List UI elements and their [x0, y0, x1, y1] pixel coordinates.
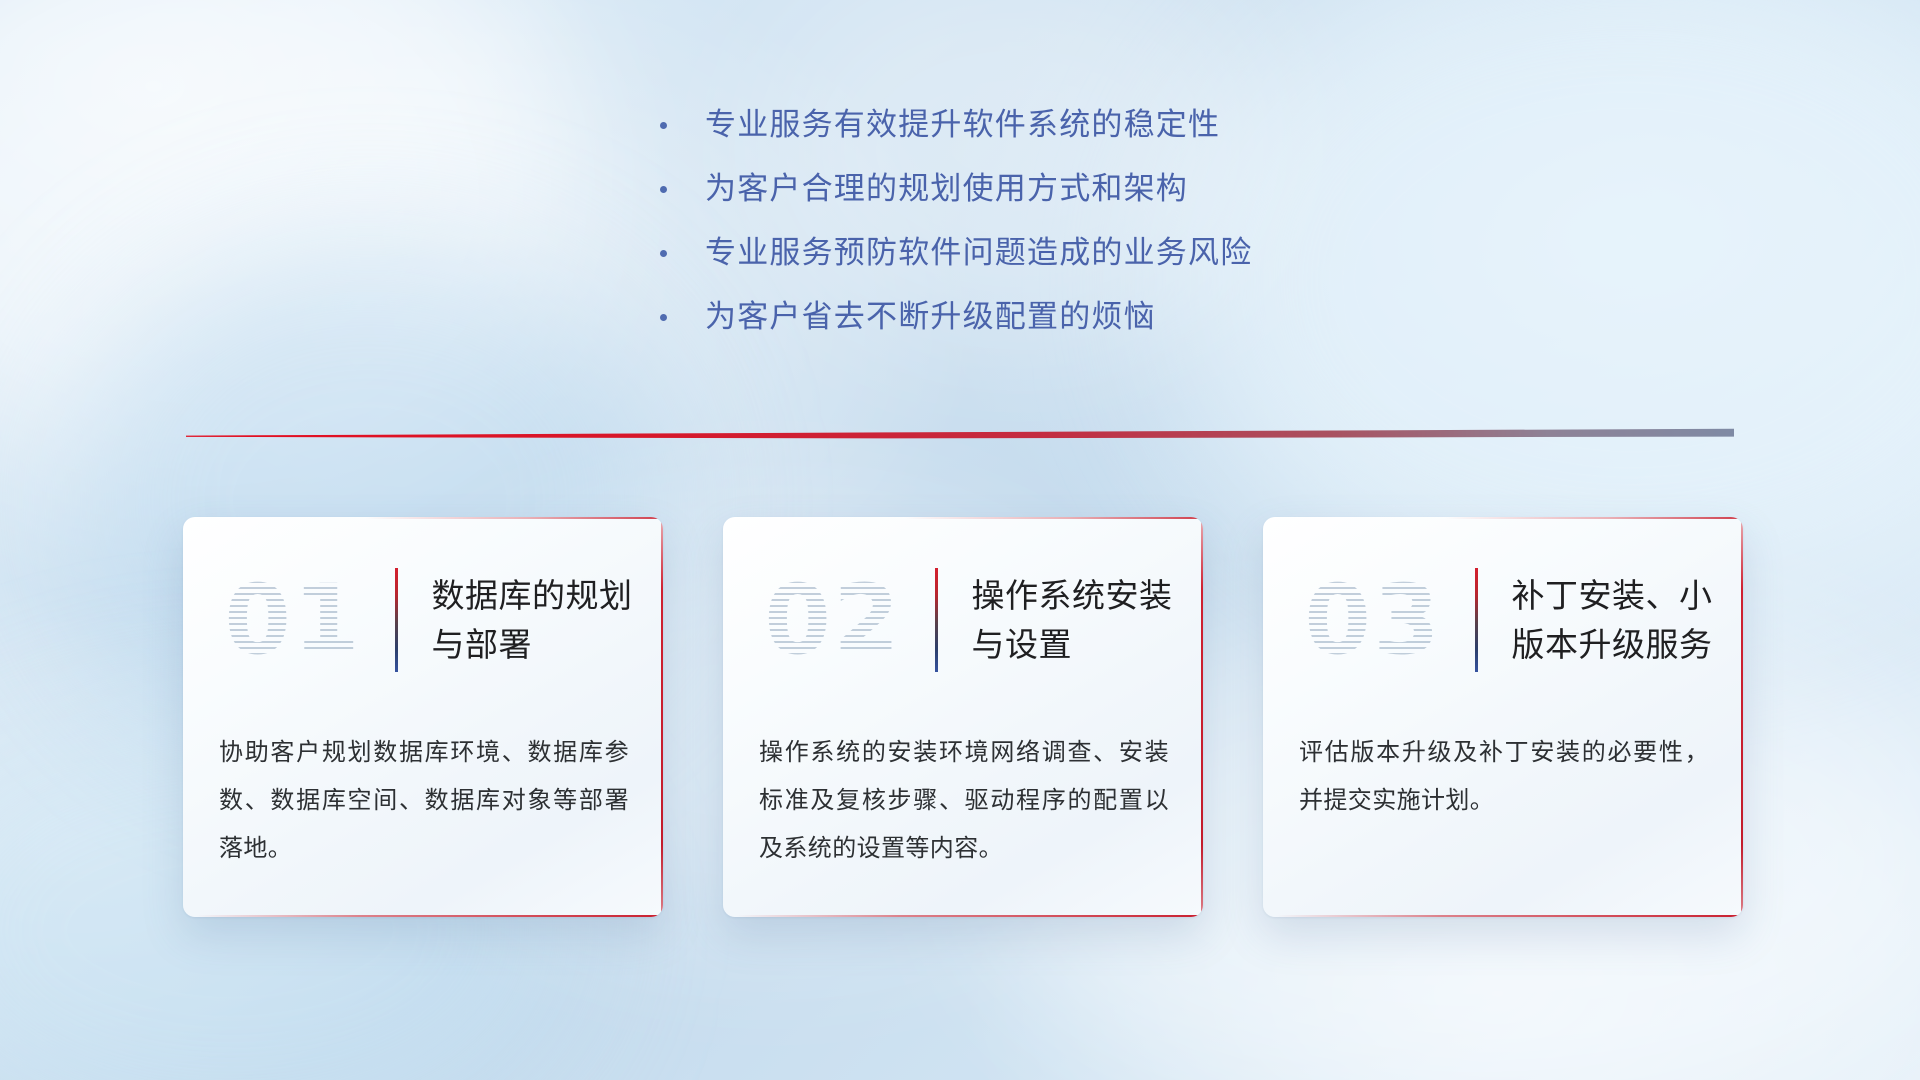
bullet-dot-icon	[660, 314, 667, 321]
card-vertical-rule	[395, 568, 398, 672]
service-card[interactable]: 02 操作系统安装与设置 操作系统的安装环境网络调查、安装标准及复核步骤、驱动程…	[723, 517, 1203, 917]
card-title: 补丁安装、小版本升级服务	[1512, 571, 1744, 669]
card-header: 03 补丁安装、小版本升级服务	[1263, 545, 1743, 695]
card-bottom-accent	[1277, 915, 1743, 918]
card-body-text: 操作系统的安装环境网络调查、安装标准及复核步骤、驱动程序的配置以及系统的设置等内…	[759, 729, 1169, 873]
card-top-accent	[1445, 517, 1743, 519]
bullet-dot-icon	[660, 122, 667, 129]
card-body-text: 协助客户规划数据库环境、数据库参数、数据库空间、数据库对象等部署落地。	[219, 729, 629, 873]
card-bottom-accent	[737, 915, 1203, 918]
section-divider	[186, 424, 1734, 446]
card-vertical-rule	[935, 568, 938, 672]
bullet-text: 专业服务预防软件问题造成的业务风险	[705, 232, 1252, 274]
bullet-text: 为客户合理的规划使用方式和架构	[705, 168, 1188, 210]
list-item: 专业服务有效提升软件系统的稳定性	[660, 104, 1480, 146]
card-number: 03	[1287, 545, 1459, 695]
bullet-text: 专业服务有效提升软件系统的稳定性	[705, 104, 1220, 146]
card-number: 02	[747, 545, 919, 695]
card-top-accent	[365, 517, 663, 519]
bullet-dot-icon	[660, 250, 667, 257]
slide-canvas: 专业服务有效提升软件系统的稳定性 为客户合理的规划使用方式和架构 专业服务预防软…	[0, 0, 1920, 1080]
card-top-accent	[905, 517, 1203, 519]
card-header: 02 操作系统安装与设置	[723, 545, 1203, 695]
bullet-dot-icon	[660, 186, 667, 193]
list-item: 为客户合理的规划使用方式和架构	[660, 168, 1480, 210]
bullet-text: 为客户省去不断升级配置的烦恼	[705, 296, 1156, 338]
card-header: 01 数据库的规划与部署	[183, 545, 663, 695]
card-title: 操作系统安装与设置	[972, 571, 1204, 669]
card-body-text: 评估版本升级及补丁安装的必要性，并提交实施计划。	[1299, 729, 1709, 825]
card-title: 数据库的规划与部署	[432, 571, 664, 669]
card-number: 01	[207, 545, 379, 695]
card-bottom-accent	[197, 915, 663, 918]
benefits-bullet-list: 专业服务有效提升软件系统的稳定性 为客户合理的规划使用方式和架构 专业服务预防软…	[660, 104, 1480, 360]
service-card[interactable]: 03 补丁安装、小版本升级服务 评估版本升级及补丁安装的必要性，并提交实施计划。	[1263, 517, 1743, 917]
service-card[interactable]: 01 数据库的规划与部署 协助客户规划数据库环境、数据库参数、数据库空间、数据库…	[183, 517, 663, 917]
service-card-group: 01 数据库的规划与部署 协助客户规划数据库环境、数据库参数、数据库空间、数据库…	[183, 517, 1743, 917]
card-vertical-rule	[1475, 568, 1478, 672]
list-item: 为客户省去不断升级配置的烦恼	[660, 296, 1480, 338]
list-item: 专业服务预防软件问题造成的业务风险	[660, 232, 1480, 274]
